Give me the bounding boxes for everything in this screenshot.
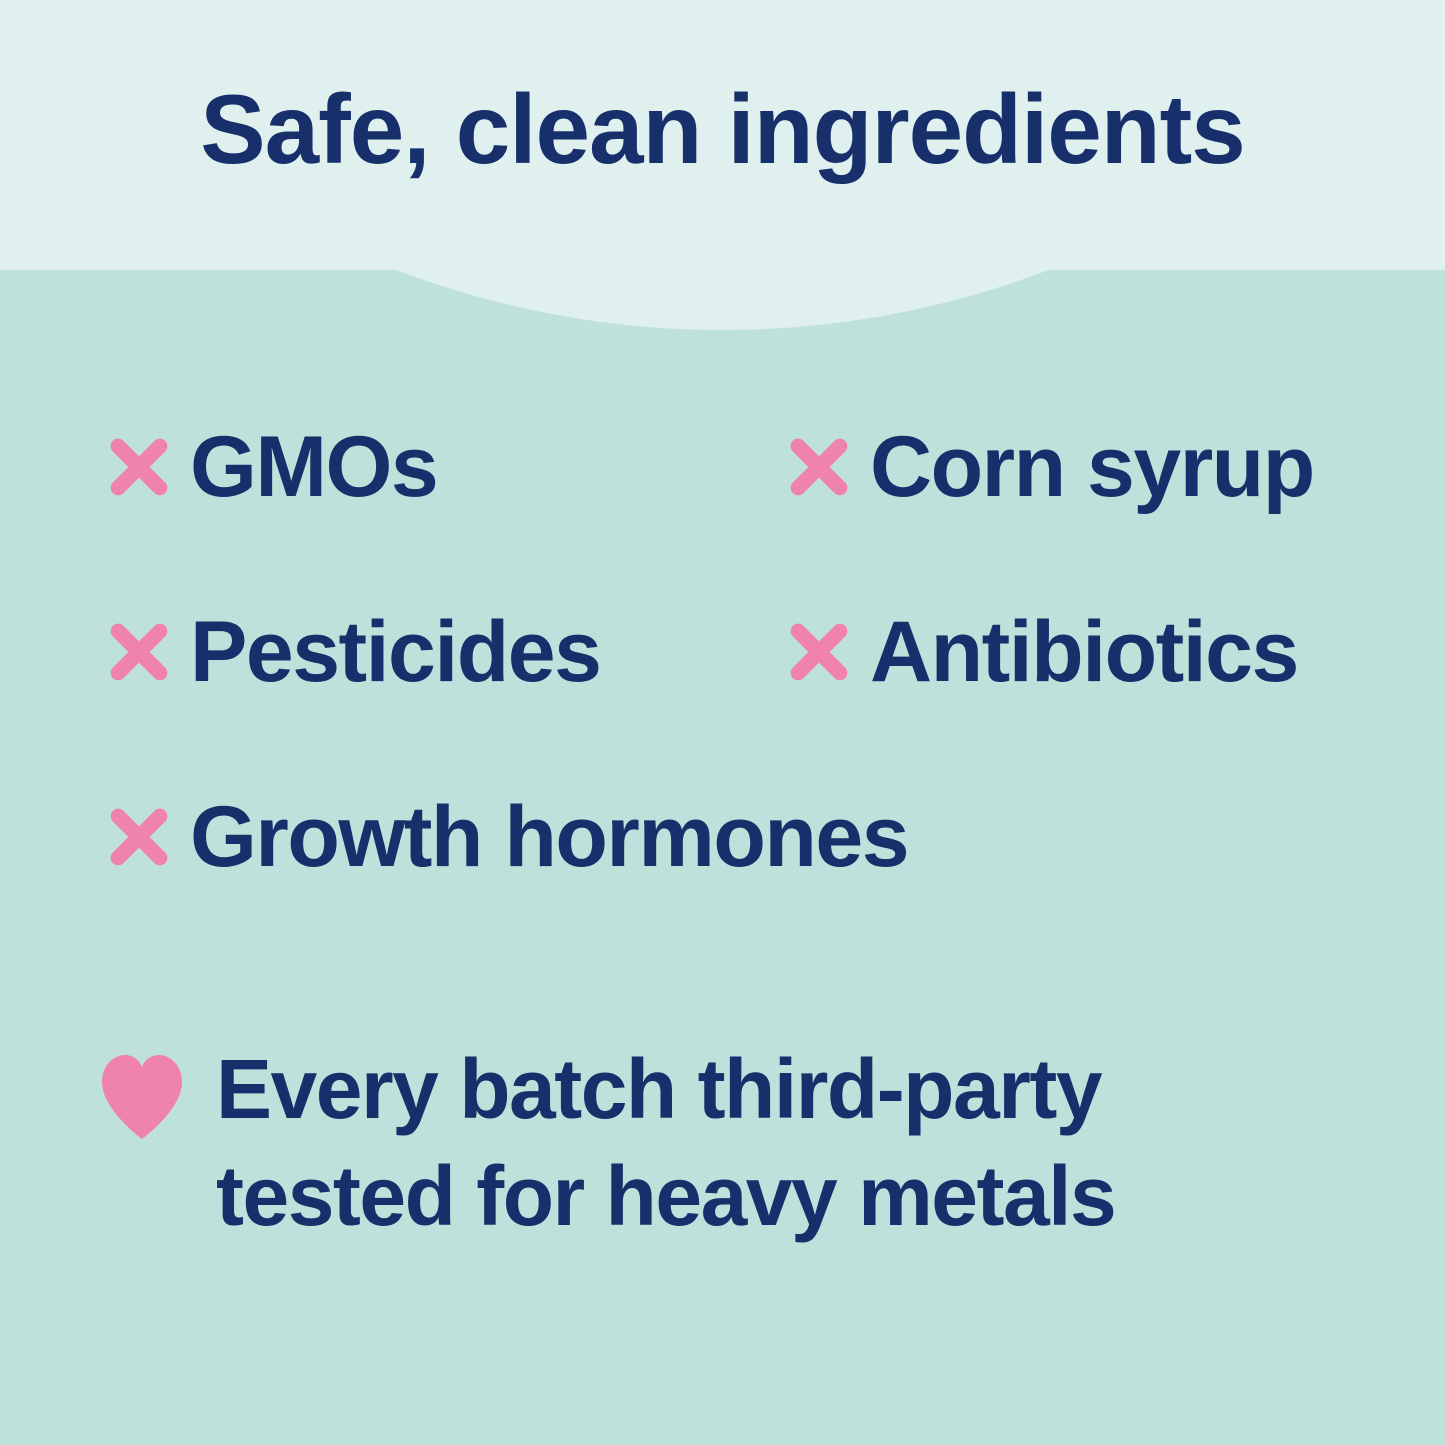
list-item: GMOs bbox=[100, 424, 437, 510]
list-item: Growth hormones bbox=[100, 794, 908, 880]
list-item: Antibiotics bbox=[780, 609, 1298, 695]
highlight-text: Every batch third-party tested for heavy… bbox=[216, 1036, 1360, 1249]
x-mark-icon bbox=[780, 428, 858, 506]
x-mark-icon bbox=[100, 798, 178, 876]
list-item: Pesticides bbox=[100, 609, 600, 695]
exclusion-label-corn-syrup: Corn syrup bbox=[870, 424, 1314, 510]
x-mark-icon bbox=[100, 613, 178, 691]
ingredients-infographic: Safe, clean ingredients GMOs Corn syrup … bbox=[0, 0, 1445, 1445]
highlight-statement: Every batch third-party tested for heavy… bbox=[100, 1036, 1360, 1249]
x-mark-icon bbox=[100, 428, 178, 506]
exclusion-label-growth-hormones: Growth hormones bbox=[190, 794, 908, 880]
exclusion-label-pesticides: Pesticides bbox=[190, 609, 600, 695]
list-item: Corn syrup bbox=[780, 424, 1314, 510]
x-mark-icon bbox=[780, 613, 858, 691]
heart-icon bbox=[100, 1054, 184, 1140]
exclusion-label-antibiotics: Antibiotics bbox=[870, 609, 1298, 695]
exclusion-label-gmos: GMOs bbox=[190, 424, 437, 510]
page-title: Safe, clean ingredients bbox=[0, 78, 1445, 181]
